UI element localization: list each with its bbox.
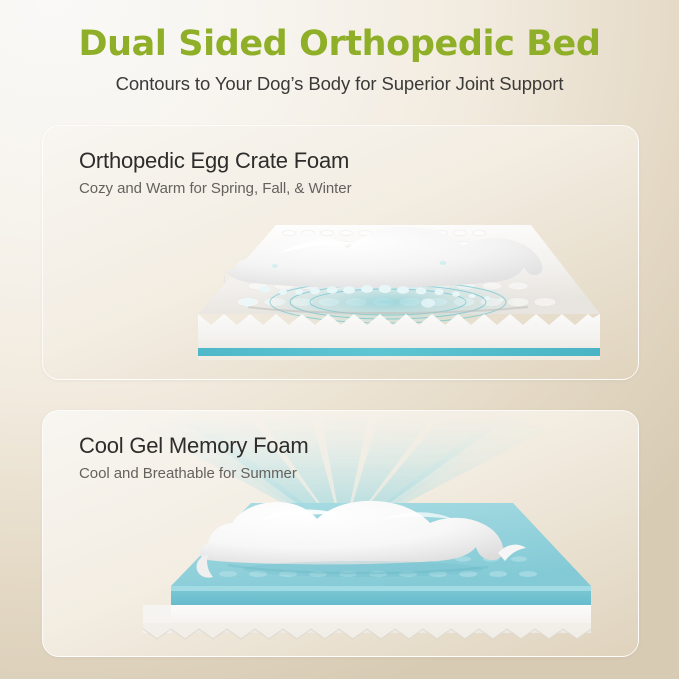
card-title: Orthopedic Egg Crate Foam — [79, 148, 352, 174]
card-subtitle: Cool and Breathable for Summer — [79, 465, 309, 482]
card-header: Orthopedic Egg Crate Foam Cozy and Warm … — [79, 148, 352, 197]
card-subtitle: Cozy and Warm for Spring, Fall, & Winter — [79, 180, 352, 197]
card-title: Cool Gel Memory Foam — [79, 433, 309, 459]
header: Dual Sided Orthopedic Bed Contours to Yo… — [0, 24, 679, 95]
card-orthopedic-egg-crate-foam[interactable]: Orthopedic Egg Crate Foam Cozy and Warm … — [42, 125, 639, 380]
page-subtitle: Contours to Your Dog’s Body for Superior… — [0, 73, 679, 95]
card-cool-gel-memory-foam[interactable]: Cool Gel Memory Foam Cool and Breathable… — [42, 410, 639, 657]
card-header: Cool Gel Memory Foam Cool and Breathable… — [79, 433, 309, 482]
infographic-page: Dual Sided Orthopedic Bed Contours to Yo… — [0, 0, 679, 679]
page-title: Dual Sided Orthopedic Bed — [0, 24, 679, 64]
